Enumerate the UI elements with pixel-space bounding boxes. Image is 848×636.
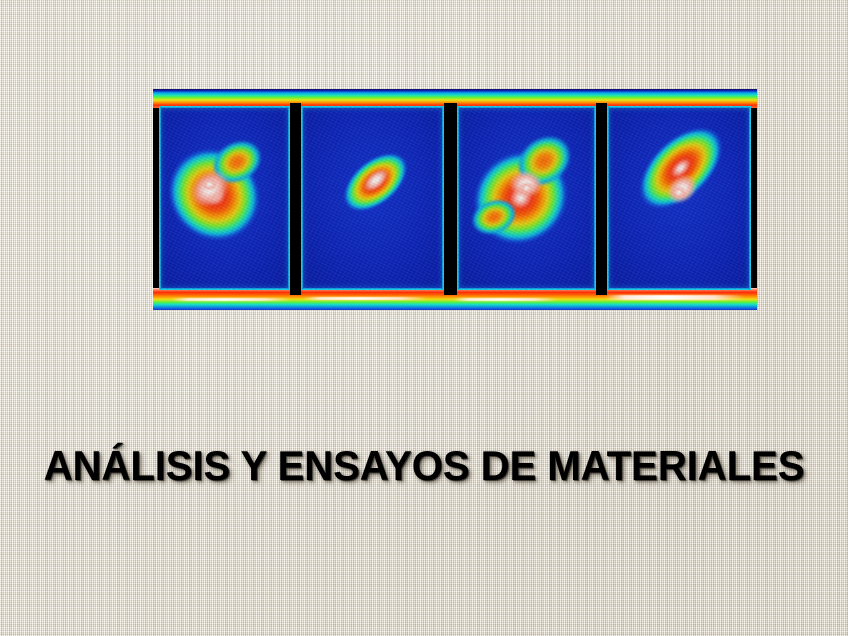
panel-gap-3 xyxy=(596,103,607,295)
ir-panel-1 xyxy=(159,106,290,290)
infrared-thermography-image xyxy=(153,89,757,310)
rail-hot-streak xyxy=(605,295,745,300)
thermal-hotspot xyxy=(624,106,743,224)
ir-panel-2 xyxy=(301,106,444,290)
panel-gap-2 xyxy=(444,103,457,295)
rail-hot-streak xyxy=(453,298,558,301)
thermal-hotspot-core xyxy=(519,182,534,194)
slide-title: ANÁLISIS Y ENSAYOS DE MATERIALES xyxy=(17,440,831,492)
presentation-slide: ANÁLISIS Y ENSAYOS DE MATERIALES xyxy=(0,0,848,636)
ir-panel-4 xyxy=(607,106,751,290)
ir-panel-3 xyxy=(457,106,596,290)
panel-gap-1 xyxy=(290,103,301,295)
rail-hot-streak xyxy=(171,298,291,301)
rail-hot-streak xyxy=(303,297,428,300)
thermal-hotspot-core xyxy=(671,186,687,199)
thermal-hotspot-core xyxy=(201,178,218,191)
